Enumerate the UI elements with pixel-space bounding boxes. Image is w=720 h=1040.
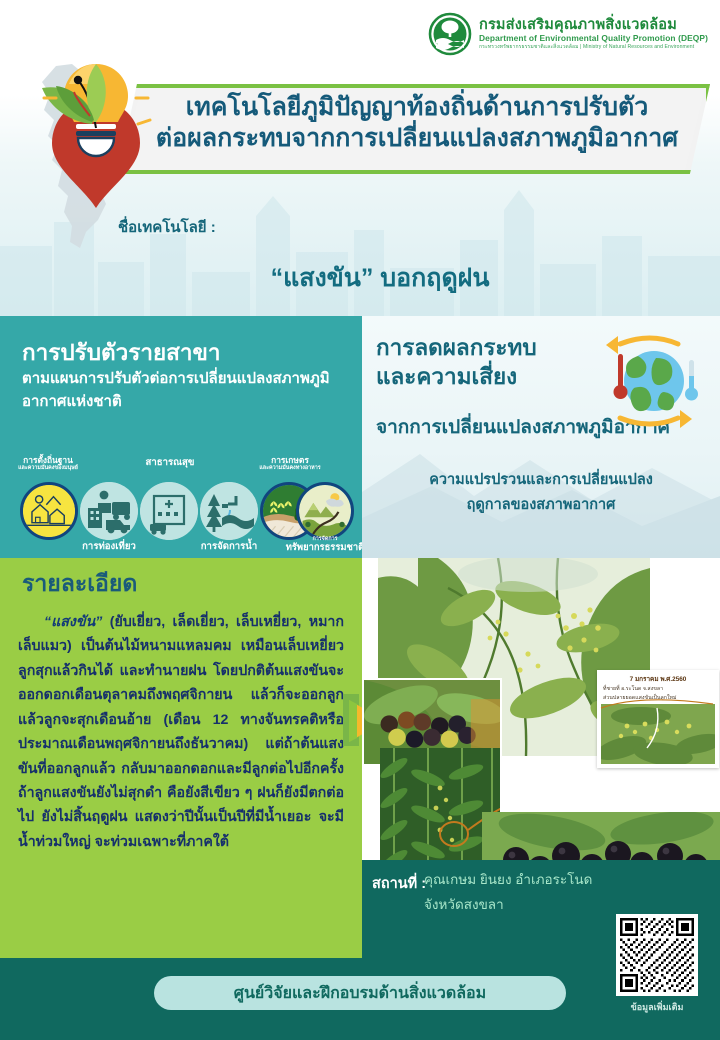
globe-thermometer-icon [594,332,706,430]
details-heading: รายละเอียด [22,566,137,602]
photo-card-thumbnail [601,704,715,764]
water-management-icon[interactable] [200,482,258,540]
poster-root: กรมส่งเสริมคุณภาพสิ่งแวดล้อม Department … [0,0,720,1040]
photo-card-pointer-line [599,698,715,710]
poster-title-line2: ต่อผลกระทบจากการเปลี่ยนแปลงสภาพภูมิอากาศ [150,123,684,154]
details-highlight-term: “แสงขัน” [44,614,102,630]
title-banner: เทคโนโลยีภูมิปัญญาท้องถิ่นด้านการปรับตัว… [118,84,710,174]
mitigation-sub-line1: ความแปรปรวนและการเปลี่ยนแปลง [362,468,720,493]
deqp-logo: กรมส่งเสริมคุณภาพสิ่งแวดล้อม Department … [428,12,708,56]
cold-thermometer-icon [685,360,698,401]
location-label: สถานที่ : [372,872,426,895]
footer-organization-pill: ศูนย์วิจัยและฝึกอบรมด้านสิ่งแวดล้อม [154,976,566,1010]
poster-title-line1: เทคโนโลยีภูมิปัญญาท้องถิ่นด้านการปรับตัว [150,92,684,123]
health-icon[interactable] [140,482,198,540]
location-line1: คุณเกษม ยินยง อำเภอระโนด [424,868,592,890]
qr-caption: ข้อมูลเพิ่มเติม [616,1000,698,1014]
photo-card-line1: ที่ชายที่ อ.ระโนด จ.สงขลา [603,685,715,693]
sector-panel-subheading: ตามแผนการปรับตัวต่อการเปลี่ยนแปลงสภาพภูม… [22,368,352,413]
sector-label-settlement: การตั้งถิ่นฐาน และความมั่นคงของมนุษย์ [0,456,104,471]
mitigation-subtext: ความแปรปรวนและการเปลี่ยนแปลง ฤดูกาลของสภ… [362,468,720,517]
technology-label: ชื่อเทคโนโลยี : [118,215,216,239]
sector-panel-heading: การปรับตัวรายสาขา [22,334,221,370]
lightbulb-leaf-pin-icon [30,58,162,208]
deqp-emblem-icon [428,12,472,56]
tourism-icon[interactable] [80,482,138,540]
details-body: “แสงขัน” (ยับเยี่ยว, เล็ดเยี่ยว, เล็บเหย… [18,610,344,854]
logo-english-name: Department of Environmental Quality Prom… [479,34,708,43]
photo-card-date: 7 มกราคม พ.ศ.2560 [597,674,719,684]
sector-label-natural-resources: การจัดการ ทรัพยากรธรรมชาติ [269,536,362,553]
hero-section: กรมส่งเสริมคุณภาพสิ่งแวดล้อม Department … [0,0,720,316]
sector-label-tourism: การท่องเที่ยว [53,542,165,553]
sector-adaptation-panel: การปรับตัวรายสาขา ตามแผนการปรับตัวต่อการ… [0,316,362,558]
logo-ministry-name: กระทรวงทรัพยากรธรรมชาติและสิ่งแวดล้อม | … [479,45,708,50]
sector-label-agriculture: การเกษตร และความมั่นคงทางอาหาร [234,456,346,471]
mitigation-sub-line2: ฤดูกาลของสภาพอากาศ [362,493,720,518]
technology-name: “แสงขัน” บอกฤดูฝน [0,258,720,298]
location-line2: จังหวัดสงขลา [424,893,504,915]
sector-icon-row: การตั้งถิ่นฐาน และความมั่นคงของมนุษย์ สา… [6,456,362,556]
mitigation-panel: การลดผลกระทบ และความเสี่ยง จากการเปลี่ยน… [362,316,720,558]
logo-thai-name: กรมส่งเสริมคุณภาพสิ่งแวดล้อม [479,18,708,33]
details-panel: รายละเอียด “แสงขัน” (ยับเยี่ยว, เล็ดเยี่… [0,558,362,958]
natural-resources-icon[interactable] [296,482,354,540]
qr-code[interactable] [616,914,698,996]
photo-caption-card: 7 มกราคม พ.ศ.2560 ที่ชายที่ อ.ระโนด จ.สง… [597,670,719,768]
mitigation-heading-line2: และความเสี่ยง [376,363,537,392]
qr-code-graphic [620,918,694,992]
footer-organization-label: ศูนย์วิจัยและฝึกอบรมด้านสิ่งแวดล้อม [234,981,486,1006]
details-body-text: (ยับเยี่ยว, เล็ดเยี่ยว, เล็บเหยี่ยว, หมา… [18,614,344,850]
sector-label-health: สาธารณสุข [114,458,226,469]
settlement-icon[interactable] [20,482,78,540]
mitigation-heading-line1: การลดผลกระทบ [376,334,537,363]
mitigation-heading: การลดผลกระทบ และความเสี่ยง [376,334,537,392]
